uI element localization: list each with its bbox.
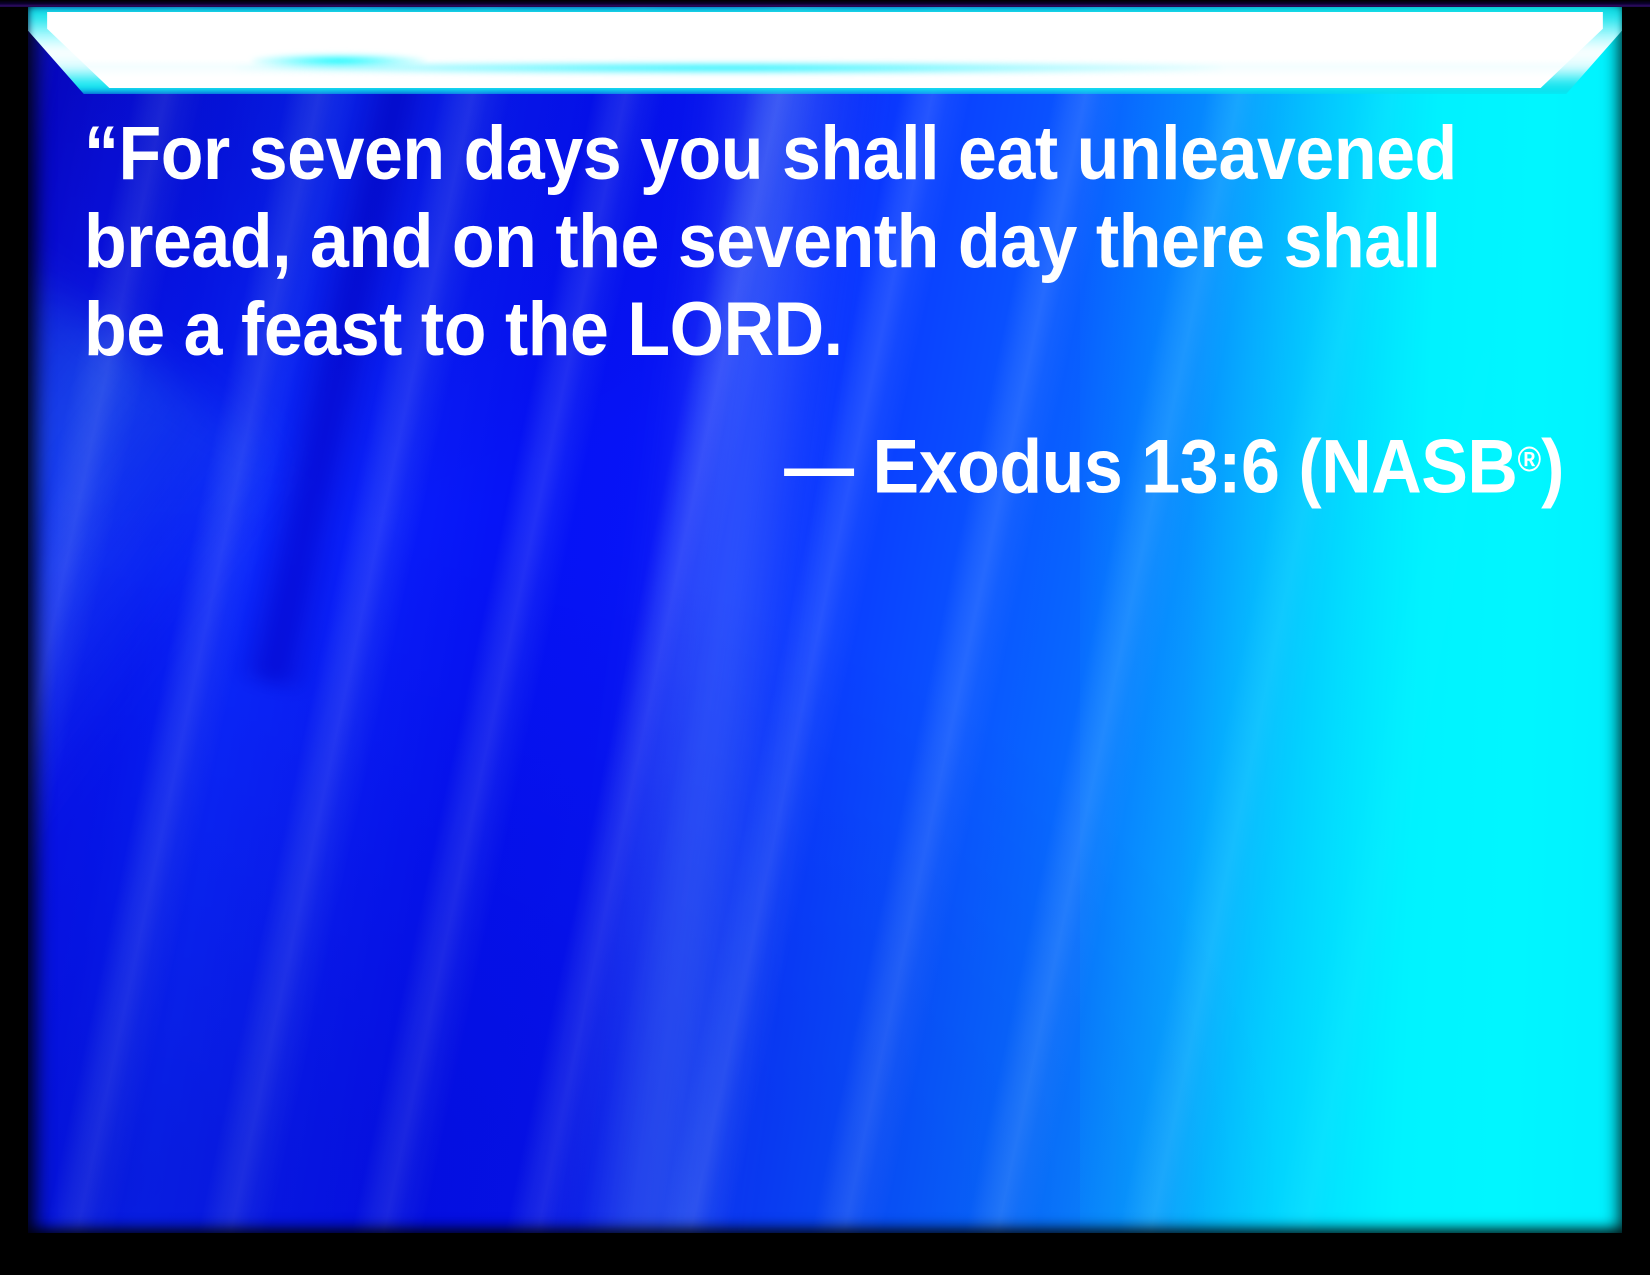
verse-line-2: bread, and on the seventh day there shal… [84, 198, 1446, 286]
registered-trademark-icon: ® [1517, 440, 1541, 479]
banner-cyan-smear [235, 62, 1223, 74]
verse-attribution: — Exodus 13:6 (NASB®) [202, 416, 1564, 512]
attribution-suffix: ) [1541, 425, 1564, 510]
slide-stage: “For seven days you shall eat unleavened… [28, 6, 1622, 1233]
banner-white-fill [47, 12, 1603, 88]
verse-line-3: be a feast to the LORD. [84, 286, 1446, 374]
verse-line-1: “For seven days you shall eat unleavened [84, 110, 1446, 198]
top-dark-strip [0, 0, 1650, 7]
attribution-prefix: — Exodus 13:6 (NASB [784, 425, 1517, 510]
top-banner [28, 6, 1622, 94]
scripture-slide: “For seven days you shall eat unleavened… [0, 0, 1650, 1275]
verse-text-block: “For seven days you shall eat unleavened… [84, 110, 1564, 512]
